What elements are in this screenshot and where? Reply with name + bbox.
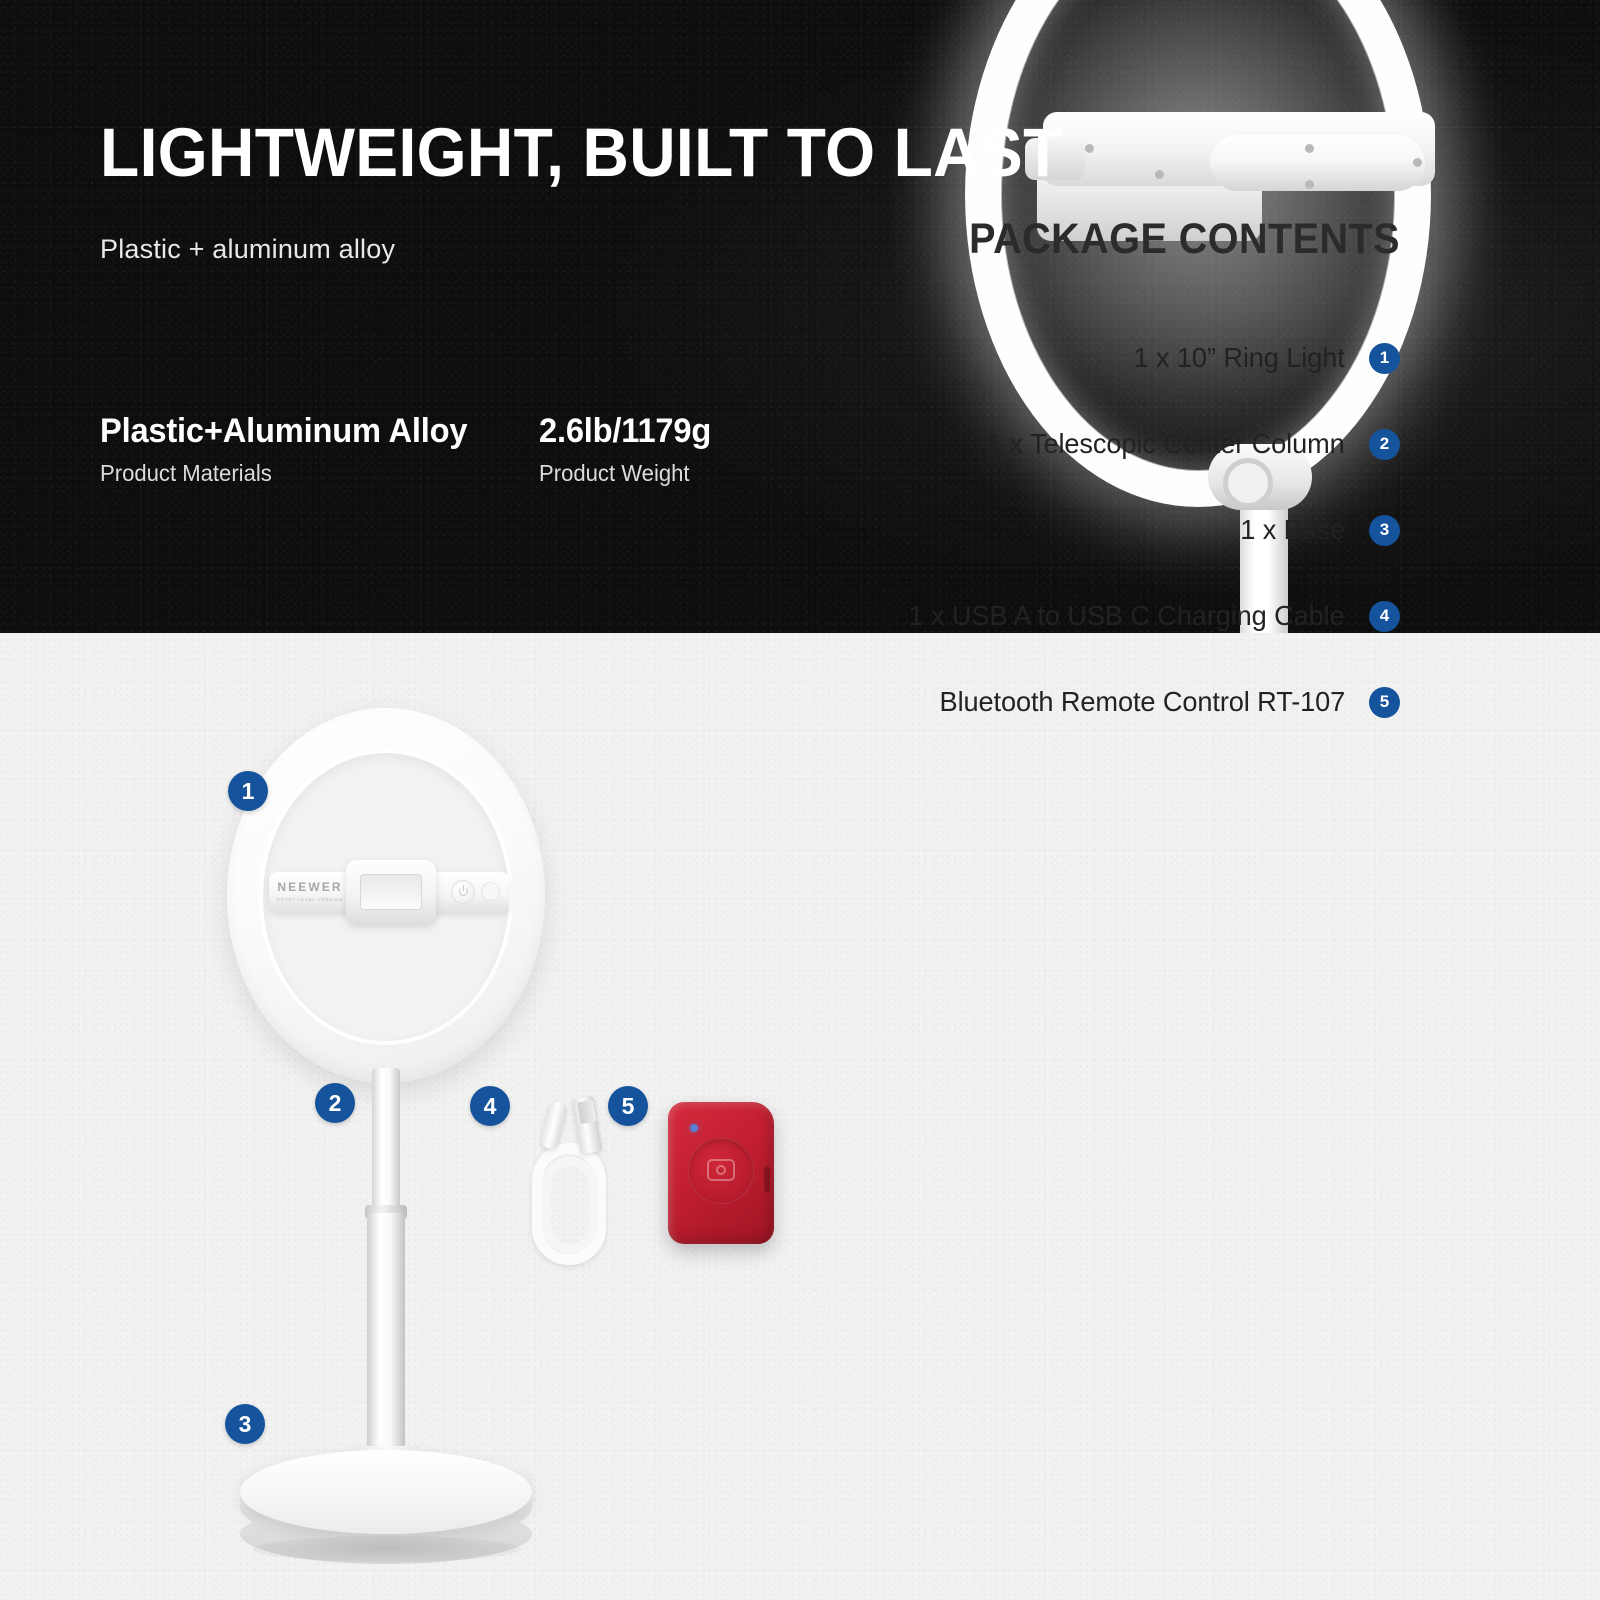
power-icon — [459, 887, 468, 896]
camera-shutter-icon — [707, 1159, 735, 1181]
contents-list-item: Bluetooth Remote Control RT-107 5 — [840, 686, 1400, 718]
contents-item-label: Bluetooth Remote Control RT-107 — [939, 686, 1345, 718]
contents-item-badge: 5 — [1369, 687, 1400, 718]
contents-list-item: 1 x Base 3 — [840, 514, 1400, 546]
brand-tagline: ENTRY LEVEL VERSION — [271, 897, 349, 902]
product-infographic: LIGHTWEIGHT, BUILT TO LAST Plastic + alu… — [0, 0, 1600, 1600]
arm-screw-dot — [1413, 158, 1422, 167]
package-contents-title: PACKAGE CONTENTS — [885, 215, 1400, 264]
contents-list-item: 1 x USB A to USB C Charging Cable 4 — [840, 600, 1400, 632]
arm-screw-dot — [1305, 180, 1314, 189]
spec-weight: 2.6lb/1179g Product Weight — [539, 412, 718, 487]
bluetooth-remote-illustration — [668, 1102, 774, 1244]
spec-material: Plastic+Aluminum Alloy Product Materials — [100, 412, 483, 487]
callout-badge-1: 1 — [228, 771, 268, 811]
contents-item-badge: 1 — [1369, 343, 1400, 374]
telescopic-column-lower — [367, 1213, 405, 1468]
remote-side-switch[interactable] — [764, 1166, 770, 1192]
spec-material-value: Plastic+Aluminum Alloy — [100, 412, 467, 451]
contents-item-label: 1 x Base — [1240, 514, 1345, 546]
package-contents-panel: PACKAGE CONTENTS 1 x 10” Ring Light 1 1 … — [840, 215, 1400, 772]
remote-led-indicator — [690, 1124, 698, 1132]
brand-plate: NEEWER ENTRY LEVEL VERSION — [271, 876, 349, 909]
base-drop-shadow — [253, 1536, 521, 1562]
hero-title: LIGHTWEIGHT, BUILT TO LAST — [100, 118, 863, 187]
cable-coil-inner — [542, 1157, 598, 1253]
arm-screw-dot — [1305, 144, 1314, 153]
brightness-dial[interactable] — [481, 882, 500, 901]
callout-badge-4: 4 — [470, 1086, 510, 1126]
callout-badge-3: 3 — [225, 1404, 265, 1444]
phone-clamp-slot — [360, 874, 422, 910]
contents-list-item: 1 x Telescopic Center Column 2 — [840, 428, 1400, 460]
telescopic-column-upper — [372, 1068, 400, 1228]
usb-charging-cable-illustration — [520, 1095, 630, 1275]
contents-item-badge: 3 — [1369, 515, 1400, 546]
neewer-logo: NEEWER — [271, 881, 349, 893]
base-top-surface — [240, 1450, 532, 1534]
callout-badge-2: 2 — [315, 1083, 355, 1123]
spec-weight-value: 2.6lb/1179g — [539, 412, 711, 451]
contents-item-label: 1 x 10” Ring Light — [1134, 342, 1345, 374]
usb-a-plug-tip — [577, 1100, 596, 1124]
contents-item-label: 1 x USB A to USB C Charging Cable — [909, 600, 1345, 632]
hero-subtitle: Plastic + aluminum alloy — [100, 234, 920, 265]
spec-material-label: Product Materials — [100, 460, 467, 487]
contents-item-badge: 2 — [1369, 429, 1400, 460]
hero-text-block: LIGHTWEIGHT, BUILT TO LAST Plastic + alu… — [100, 118, 920, 265]
contents-list-item: 1 x 10” Ring Light 1 — [840, 342, 1400, 374]
arm-screw-dot — [1155, 170, 1164, 179]
contents-item-badge: 4 — [1369, 601, 1400, 632]
callout-badge-5: 5 — [608, 1086, 648, 1126]
extension-tube — [1210, 135, 1425, 191]
spec-weight-label: Product Weight — [539, 460, 711, 487]
spec-row: Plastic+Aluminum Alloy Product Materials… — [100, 412, 718, 487]
contents-item-label: 1 x Telescopic Center Column — [987, 428, 1345, 460]
arm-screw-dot — [1085, 144, 1094, 153]
